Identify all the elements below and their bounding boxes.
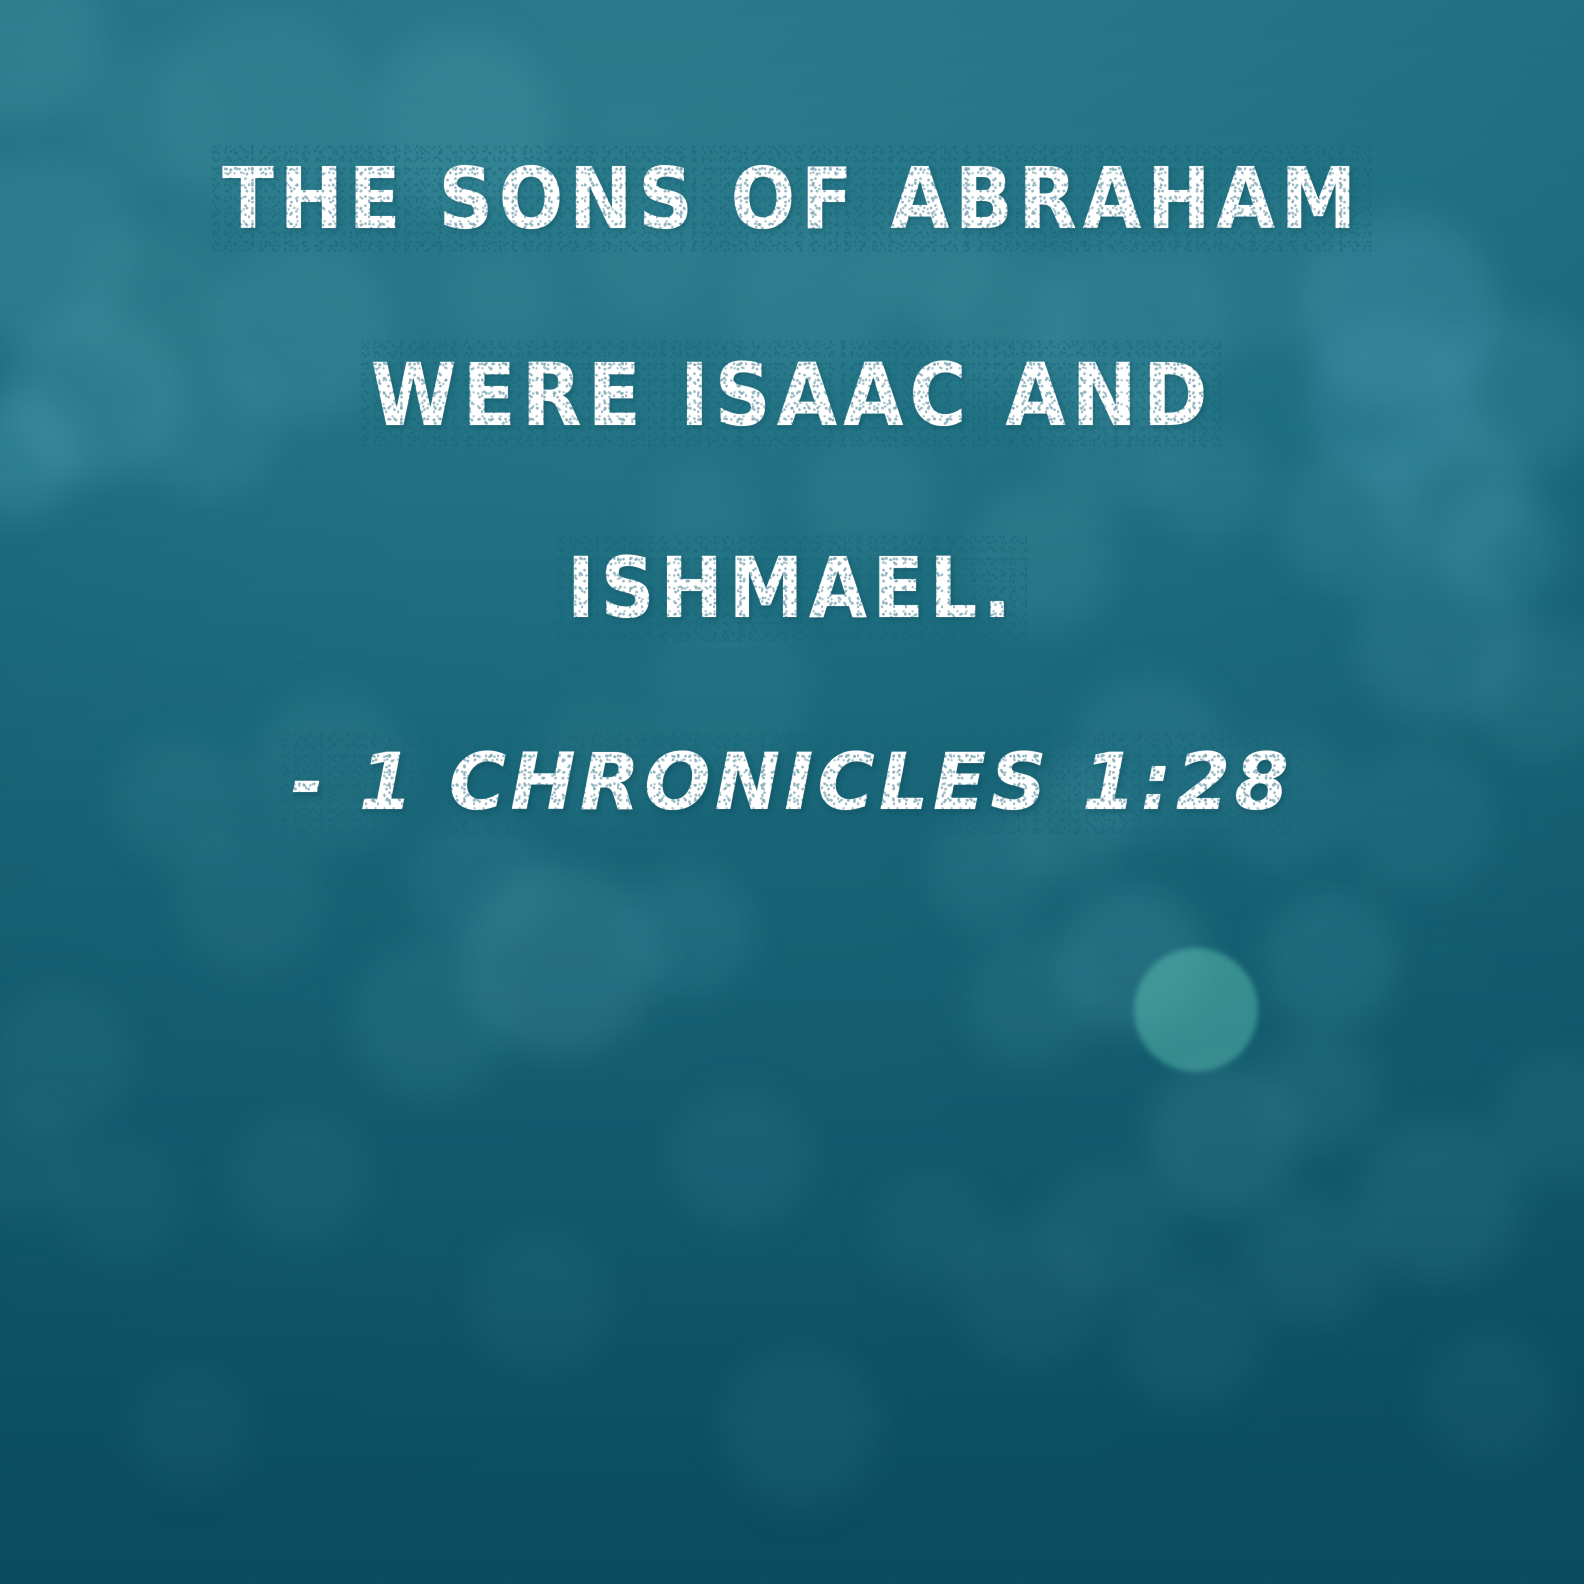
verse-line-2: WERE ISAAC AND [0,345,1584,446]
verse-line-3-text: ISHMAEL. [567,540,1017,637]
verse-line-3: ISHMAEL. [0,540,1584,637]
verse-line-1-text: THE SONS OF ABRAHAM [222,150,1362,248]
verse-image-canvas: THE SONS OF ABRAHAM WERE ISAAC AND ISHMA… [0,0,1584,1584]
verse-line-2-text: WERE ISAAC AND [371,345,1214,446]
verse-line-1: THE SONS OF ABRAHAM [0,150,1584,248]
verse-reference-text: - 1 CHRONICLES 1:28 [291,737,1293,828]
verse-reference: - 1 CHRONICLES 1:28 [0,737,1584,828]
